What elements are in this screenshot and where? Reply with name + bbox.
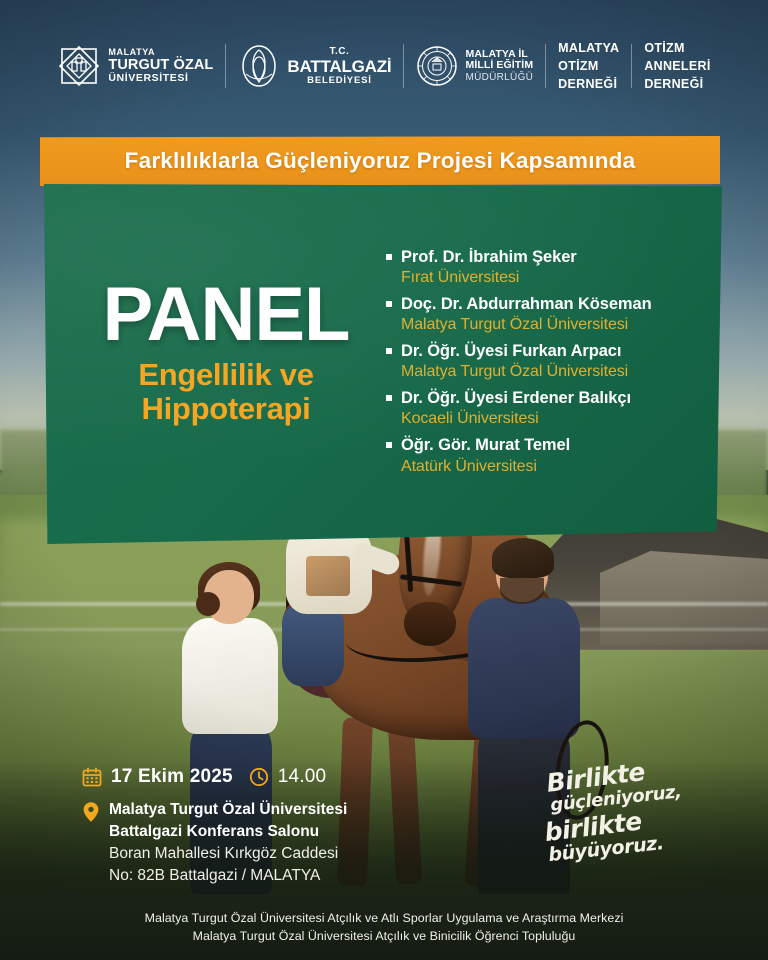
clock-icon [249, 767, 269, 787]
page-title: PANEL [66, 280, 386, 350]
location-pin-icon [82, 801, 100, 823]
logo-line-1: MALATYA [108, 47, 213, 57]
speaker-affiliation: Malatya Turgut Özal Üniversitesi [386, 315, 716, 336]
speaker-affiliation: Kocaeli Üniversitesi [386, 409, 716, 430]
logo-line-3: DERNEĞİ [644, 75, 710, 93]
speaker-name: Öğr. Gör. Murat Temel [386, 434, 716, 456]
logo-mtu: MALATYA TURGUT ÖZAL ÜNİVERSİTESİ [45, 44, 225, 88]
speaker-item: Prof. Dr. İbrahim Şeker Fırat Üniversite… [386, 246, 716, 289]
speaker-item: Dr. Öğr. Üyesi Erdener Balıkçı Kocaeli Ü… [386, 387, 716, 430]
subtitle-line-2: Hippoterapi [66, 392, 386, 426]
event-date: 17 Ekim 2025 [111, 766, 233, 788]
logo-line-3: DERNEĞİ [558, 75, 619, 93]
logo-line-2: TURGUT ÖZAL [108, 57, 213, 73]
event-details: 17 Ekim 2025 14.00 Malatya Turgut Özal Ü… [82, 766, 347, 887]
logo-line-3: ÜNİVERSİTESİ [108, 73, 213, 85]
battalgazi-crest-icon [238, 44, 280, 88]
speaker-affiliation: Fırat Üniversitesi [386, 268, 716, 289]
project-banner: Farklılıklarla Güçleniyoruz Projesi Kaps… [40, 136, 720, 186]
speaker-item: Öğr. Gör. Murat Temel Atatürk Üniversite… [386, 434, 716, 477]
logo-otizm-anneleri-dernegi: OTİZM ANNELERİ DERNEĞİ [632, 39, 722, 93]
logo-line-2: ANNELERİ [644, 57, 710, 75]
speaker-list: Prof. Dr. İbrahim Şeker Fırat Üniversite… [386, 246, 716, 481]
mtu-crest-icon [57, 44, 101, 88]
project-banner-text: Farklılıklarla Güçleniyoruz Projesi Kaps… [40, 136, 720, 186]
event-poster: MALATYA TURGUT ÖZAL ÜNİVERSİTESİ T.C. BA… [0, 0, 768, 960]
event-time: 14.00 [278, 766, 327, 788]
logo-battalgazi: T.C. BATTALGAZİ BELEDİYESİ [226, 44, 403, 88]
meb-seal-icon [416, 45, 458, 87]
logo-line-3: MÜDÜRLÜĞÜ [465, 72, 533, 83]
logo-malatya-otizm-dernegi: MALATYA OTİZM DERNEĞİ [546, 39, 631, 93]
speaker-name: Dr. Öğr. Üyesi Erdener Balıkçı [386, 387, 716, 409]
logo-meb: MALATYA İL MİLLİ EĞİTİM MÜDÜRLÜĞÜ [404, 45, 545, 87]
logo-line-2: MİLLİ EĞİTİM [465, 60, 533, 72]
event-datetime-row: 17 Ekim 2025 14.00 [82, 766, 347, 788]
speaker-name: Dr. Öğr. Üyesi Furkan Arpacı [386, 340, 716, 362]
poster-footer: Malatya Turgut Özal Üniversitesi Atçılık… [0, 894, 768, 960]
campaign-slogan: Birlikte güçleniyoruz, birlikte büyüyoru… [546, 758, 726, 857]
footer-line-1: Malatya Turgut Özal Üniversitesi Atçılık… [145, 911, 624, 925]
speaker-name: Doç. Dr. Abdurrahman Köseman [386, 293, 716, 315]
calendar-icon [82, 767, 102, 787]
speaker-affiliation: Malatya Turgut Özal Üniversitesi [386, 362, 716, 383]
subtitle-line-1: Engellilik ve [66, 358, 386, 392]
logo-line-1: MALATYA [558, 39, 619, 57]
logo-line-2: OTİZM [558, 57, 619, 75]
title-block: PANEL Engellilik ve Hippoterapi [66, 280, 386, 426]
address-line-1: Boran Mahallesi Kırkgöz Caddesi [109, 843, 347, 865]
sponsor-logo-bar: MALATYA TURGUT ÖZAL ÜNİVERSİTESİ T.C. BA… [0, 0, 768, 132]
logo-line-1: T.C. [287, 46, 391, 57]
speaker-item: Dr. Öğr. Üyesi Furkan Arpacı Malatya Tur… [386, 340, 716, 383]
speaker-name: Prof. Dr. İbrahim Şeker [386, 246, 716, 268]
footer-line-2: Malatya Turgut Özal Üniversitesi Atçılık… [193, 929, 576, 943]
logo-line-3: BELEDİYESİ [287, 76, 391, 87]
event-location-row: Malatya Turgut Özal Üniversitesi Battalg… [82, 799, 347, 887]
logo-line-1: OTİZM [644, 39, 710, 57]
logo-line-2: BATTALGAZİ [287, 57, 391, 76]
speaker-affiliation: Atatürk Üniversitesi [386, 457, 716, 478]
speaker-item: Doç. Dr. Abdurrahman Köseman Malatya Tur… [386, 293, 716, 336]
venue-line-2: Battalgazi Konferans Salonu [109, 821, 347, 843]
address-line-2: No: 82B Battalgazi / MALATYA [109, 865, 347, 887]
venue-line-1: Malatya Turgut Özal Üniversitesi [109, 799, 347, 821]
